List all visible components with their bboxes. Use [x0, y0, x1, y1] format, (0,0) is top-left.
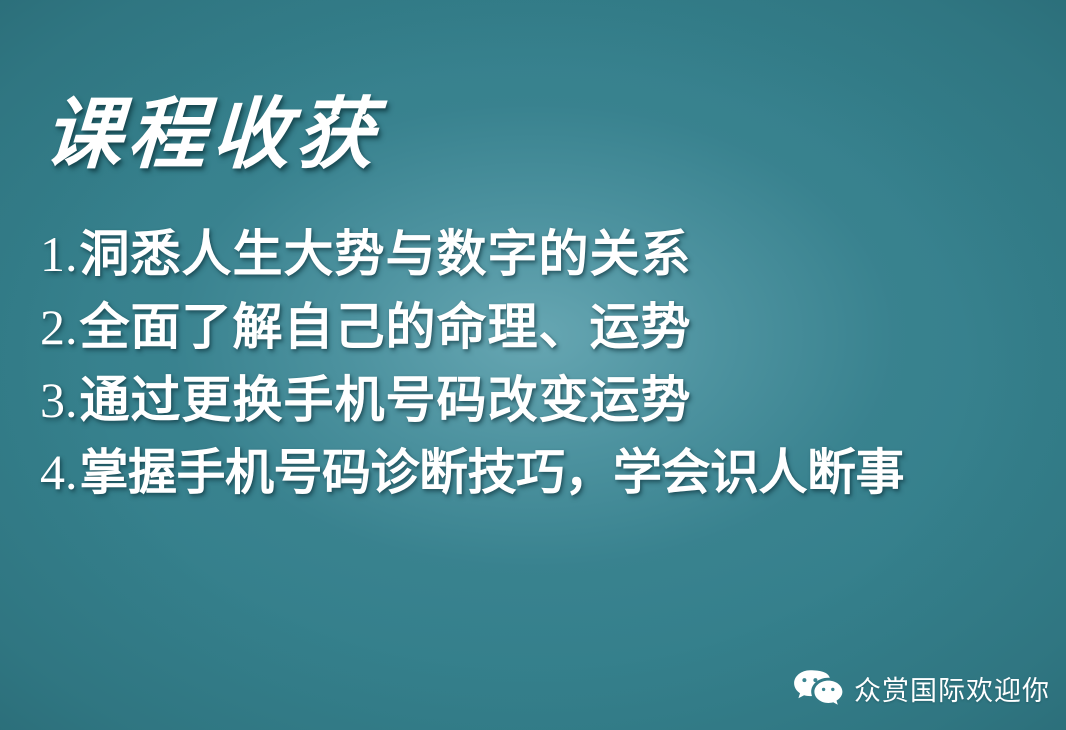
presentation-slide: 课程收获 1. 洞悉人生大势与数字的关系 2. 全面了解自己的命理、运势 3. …: [0, 0, 1066, 730]
list-item: 2. 全面了解自己的命理、运势: [40, 287, 904, 360]
takeaway-list: 1. 洞悉人生大势与数字的关系 2. 全面了解自己的命理、运势 3. 通过更换手…: [40, 214, 904, 506]
list-item-label: 洞悉人生大势与数字的关系: [80, 214, 692, 286]
wechat-badge: 众赏国际欢迎你: [792, 668, 1050, 708]
list-item-number: 3.: [40, 371, 78, 429]
wechat-badge-label: 众赏国际欢迎你: [854, 669, 1050, 708]
page-title: 课程收获: [42, 96, 382, 174]
list-item: 1. 洞悉人生大势与数字的关系: [40, 214, 904, 287]
list-item-number: 4.: [40, 443, 78, 501]
list-item-label: 通过更换手机号码改变运势: [80, 360, 692, 432]
title-block: 课程收获: [44, 96, 380, 174]
list-item-number: 2.: [40, 298, 78, 356]
list-item-label: 全面了解自己的命理、运势: [80, 287, 692, 359]
list-item: 4. 掌握手机号码诊断技巧，学会识人断事: [40, 433, 904, 506]
list-item-number: 1.: [40, 225, 78, 283]
wechat-icon: [792, 668, 844, 708]
list-item: 3. 通过更换手机号码改变运势: [40, 360, 904, 433]
list-item-label: 掌握手机号码诊断技巧，学会识人断事: [80, 433, 905, 504]
